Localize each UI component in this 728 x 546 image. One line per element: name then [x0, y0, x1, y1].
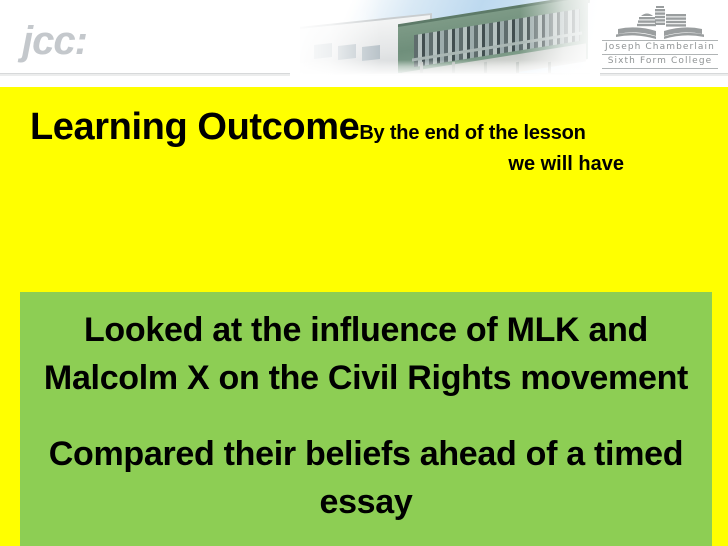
page-subtitle-line2: we will have [30, 153, 698, 176]
slide: jcc: [0, 0, 728, 546]
header-building-photo [290, 0, 600, 76]
outcome-item-2: Compared their beliefs ahead of a timed … [28, 430, 704, 526]
page-title: Learning Outcome [30, 106, 359, 148]
outcome-spacer [28, 402, 704, 430]
outcomes-panel: Looked at the influence of MLK and Malco… [20, 292, 712, 546]
college-logo: Joseph Chamberlain Sixth Form College [600, 6, 720, 72]
page-subtitle-line1: By the end of the lesson [359, 122, 585, 144]
slide-header: jcc: [0, 0, 728, 87]
slide-body: Learning OutcomeBy the end of the lesson… [0, 87, 728, 546]
college-crest-icon [614, 6, 706, 39]
learning-outcome-heading: Learning OutcomeBy the end of the lesson… [30, 105, 698, 176]
photo-fade-bottom [290, 60, 600, 76]
logo-rule-bottom [602, 68, 718, 69]
logo-text-line1: Joseph Chamberlain [600, 41, 720, 53]
outcome-item-1: Looked at the influence of MLK and Malco… [28, 306, 704, 402]
logo-text-line2: Sixth Form College [600, 55, 720, 67]
jcc-wordmark: jcc: [22, 21, 87, 61]
